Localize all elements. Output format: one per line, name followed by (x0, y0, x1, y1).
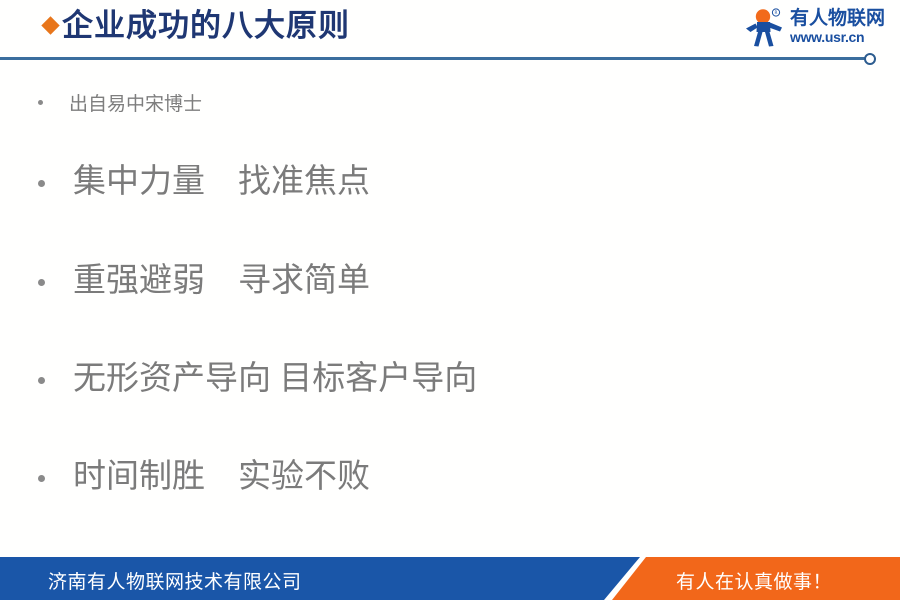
bullet-dot-icon (38, 279, 45, 286)
bullet-item: 集中力量 找准焦点 (38, 166, 370, 199)
bullet-text: 时间制胜 实验不败 (73, 461, 370, 494)
bullet-text: 无形资产导向 目标客户导向 (73, 363, 477, 396)
brand-name-cn: 有人物联网 (790, 8, 894, 29)
bullet-text: 重强避弱 寻求简单 (73, 265, 370, 298)
bullet-item: 时间制胜 实验不败 (38, 461, 370, 494)
header-divider-line (0, 57, 866, 60)
svg-text:R: R (775, 10, 778, 15)
slide-footer: 济南有人物联网技术有限公司 有人在认真做事！ (0, 557, 900, 600)
footer-slogan: 有人在认真做事！ (676, 567, 832, 594)
brand-logo-text: 有人物联网 www.usr.cn (790, 8, 894, 45)
bullet-dot-icon (38, 475, 45, 482)
slide-header: 企业成功的八大原则 R 有人物联网 www.usr.cn (0, 0, 900, 62)
usr-person-logo-icon: R (742, 8, 788, 48)
bullet-dot-icon (38, 180, 45, 187)
page-title: 企业成功的八大原则 (62, 10, 350, 41)
bullet-dot-icon (38, 100, 43, 105)
bullet-item: 出自易中宋博士 (38, 95, 202, 114)
brand-website-url: www.usr.cn (790, 29, 894, 45)
slide-canvas: 企业成功的八大原则 R 有人物联网 www.usr.cn 出自易中宋博士集中力量… (0, 0, 900, 600)
bullet-dot-icon (38, 377, 45, 384)
bullet-text: 集中力量 找准焦点 (73, 166, 370, 199)
footer-company-name: 济南有人物联网技术有限公司 (48, 567, 302, 594)
brand-logo: R 有人物联网 www.usr.cn (742, 6, 892, 50)
slide-body: 出自易中宋博士集中力量 找准焦点重强避弱 寻求简单无形资产导向 目标客户导向时间… (0, 62, 900, 552)
bullet-item: 无形资产导向 目标客户导向 (38, 363, 477, 396)
diamond-bullet-icon (41, 16, 59, 34)
bullet-text: 出自易中宋博士 (69, 95, 202, 114)
slide-title-row: 企业成功的八大原则 (44, 10, 350, 41)
bullet-item: 重强避弱 寻求简单 (38, 265, 370, 298)
